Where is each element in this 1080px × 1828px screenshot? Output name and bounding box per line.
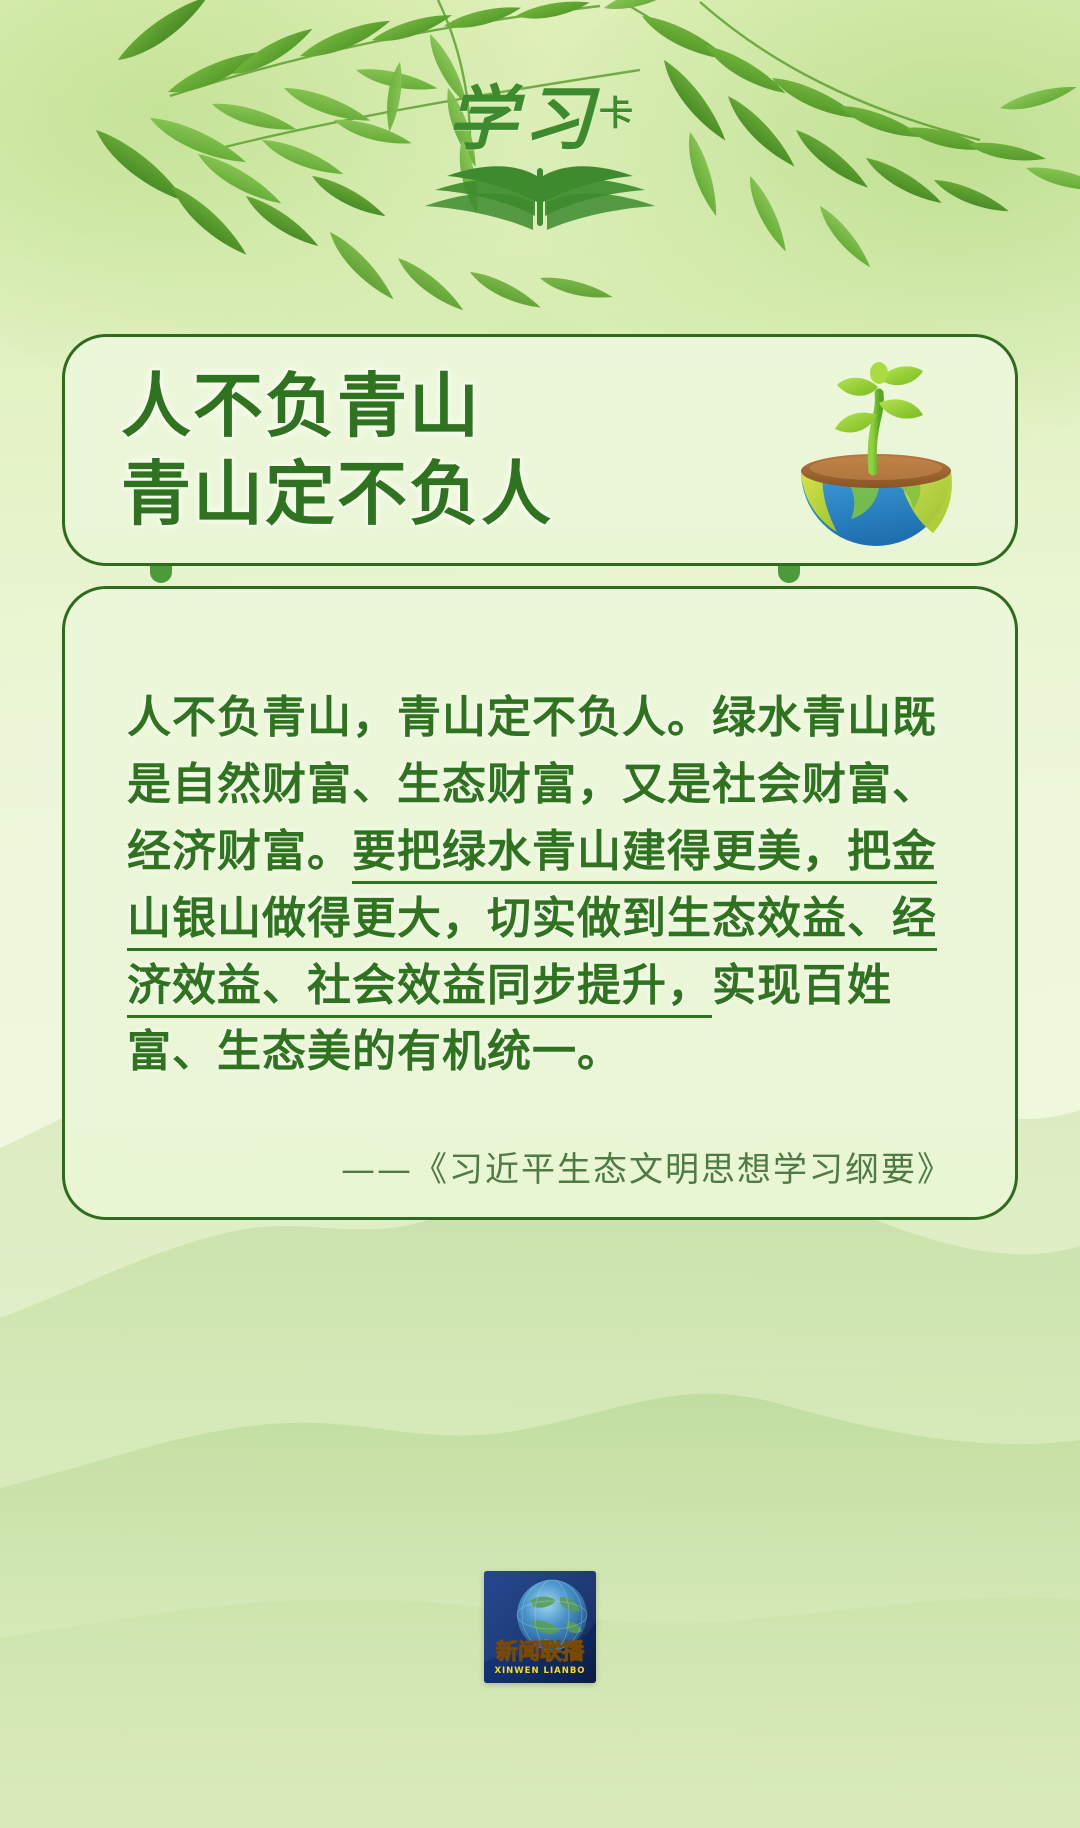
channel-name-cn-text: 新闻联播 [496, 1639, 585, 1665]
quote-paragraph: 人不负青山，青山定不负人。绿水青山既是自然财富、生态财富，又是社会财富、经济财富… [127, 685, 953, 1086]
quote-source-attribution: ——《习近平生态文明思想学习纲要》 [127, 1142, 953, 1191]
headline-line-2: 青山定不负人 [121, 451, 975, 539]
brand-logo-title-suffix: 卡 [599, 94, 633, 134]
xinwen-lianbo-channel-logo: 新闻联播 XINWEN LIANBO [484, 1571, 596, 1683]
poster-root: 学习卡 人不负青山 青山定不负人 [0, 0, 1080, 1828]
brand-logo: 学习卡 [0, 84, 1080, 230]
headline-card: 人不负青山 青山定不负人 [62, 334, 1018, 566]
willow-leaves-decoration [0, 0, 1080, 330]
headline-line-1: 人不负青山 [121, 363, 975, 451]
open-book-icon [425, 158, 655, 230]
headline-text-block: 人不负青山 青山定不负人 [121, 363, 975, 538]
brand-logo-title: 学习卡 [425, 84, 655, 154]
channel-name-pinyin-text: XINWEN LIANBO [494, 1666, 585, 1676]
quote-card: 人不负青山，青山定不负人。绿水青山既是自然财富、生态财富，又是社会财富、经济财富… [62, 586, 1018, 1220]
brand-logo-title-main: 学习 [447, 77, 599, 160]
